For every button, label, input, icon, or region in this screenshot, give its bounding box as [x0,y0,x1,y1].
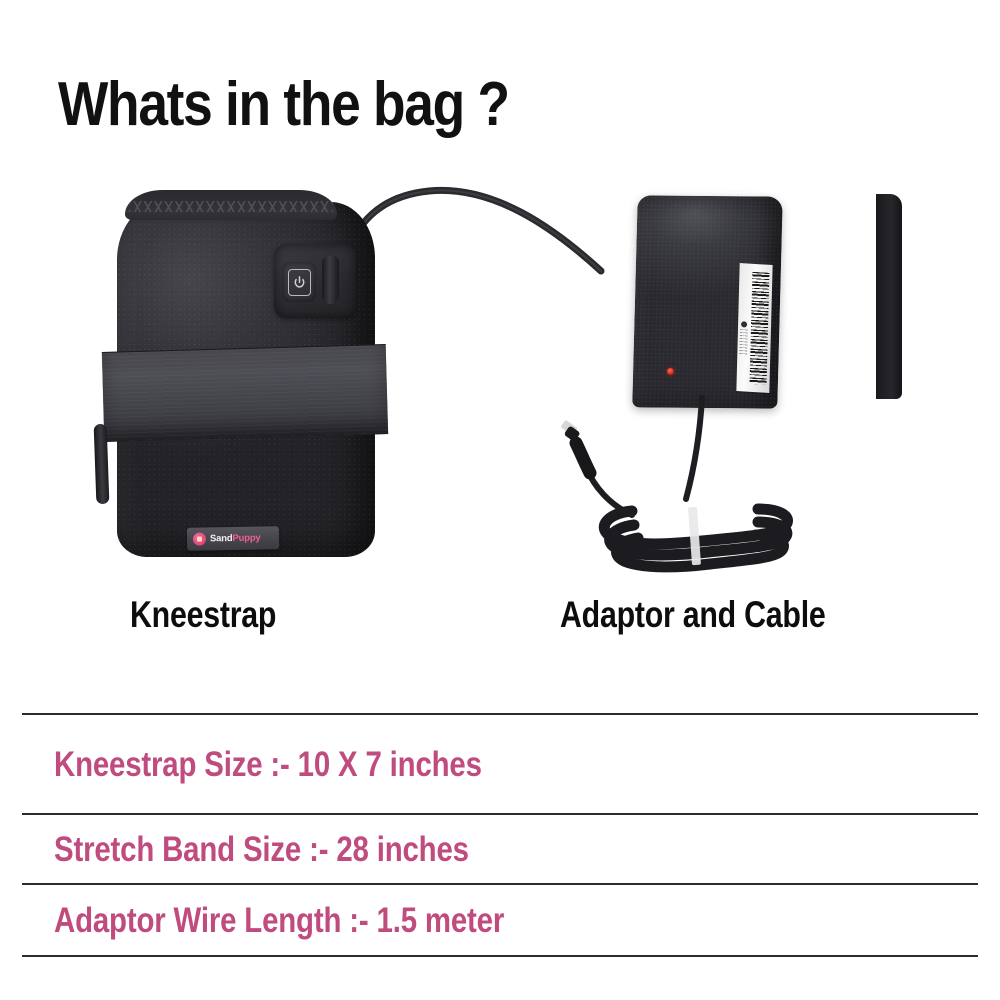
spec-text: Kneestrap Size :- 10 X 7 inches [54,747,482,782]
spec-row-stretch-band-size: Stretch Band Size :- 28 inches [22,815,978,883]
kneestrap-top-seam [125,190,337,220]
power-button-outline [288,269,311,296]
brand-name-part2: Puppy [232,532,260,543]
brand-tag: SandPuppy [187,526,279,551]
kneestrap-product-image: SandPuppy [95,180,395,580]
spec-row-kneestrap-size: Kneestrap Size :- 10 X 7 inches [22,715,978,813]
adaptor-cable-icon [560,395,900,610]
label-text-lines [739,329,748,355]
adaptor-product-image [560,190,900,610]
cable-connector [322,256,339,304]
band-loop [94,424,110,504]
brand-name-part1: Sand [210,533,233,544]
led-indicator [667,368,674,375]
caption-adaptor: Adaptor and Cable [560,596,826,633]
spec-text: Adaptor Wire Length :- 1.5 meter [54,903,504,938]
power-icon [294,276,305,289]
page-title: Whats in the bag ? [58,74,509,136]
spec-divider-bottom [22,955,978,957]
power-button[interactable] [282,262,316,302]
sandpuppy-logo-icon [193,532,206,545]
band-ribbing-texture [102,345,388,441]
barcode-icon [750,272,770,385]
label-logo-icon [741,321,747,327]
brand-tag-label: SandPuppy [210,533,261,543]
adaptor-side-face [876,194,902,399]
spec-text: Stretch Band Size :- 28 inches [54,832,469,867]
kneestrap-stretch-band [102,344,388,442]
caption-kneestrap: Kneestrap [130,596,276,633]
product-gallery: SandPuppy [0,170,1000,650]
adaptor-spec-label [736,263,772,393]
spec-row-adaptor-wire-length: Adaptor Wire Length :- 1.5 meter [22,885,978,955]
zigzag-stitch-icon [129,201,333,212]
specification-table: Kneestrap Size :- 10 X 7 inches Stretch … [22,713,978,957]
kneestrap-control-pad[interactable] [274,244,356,318]
